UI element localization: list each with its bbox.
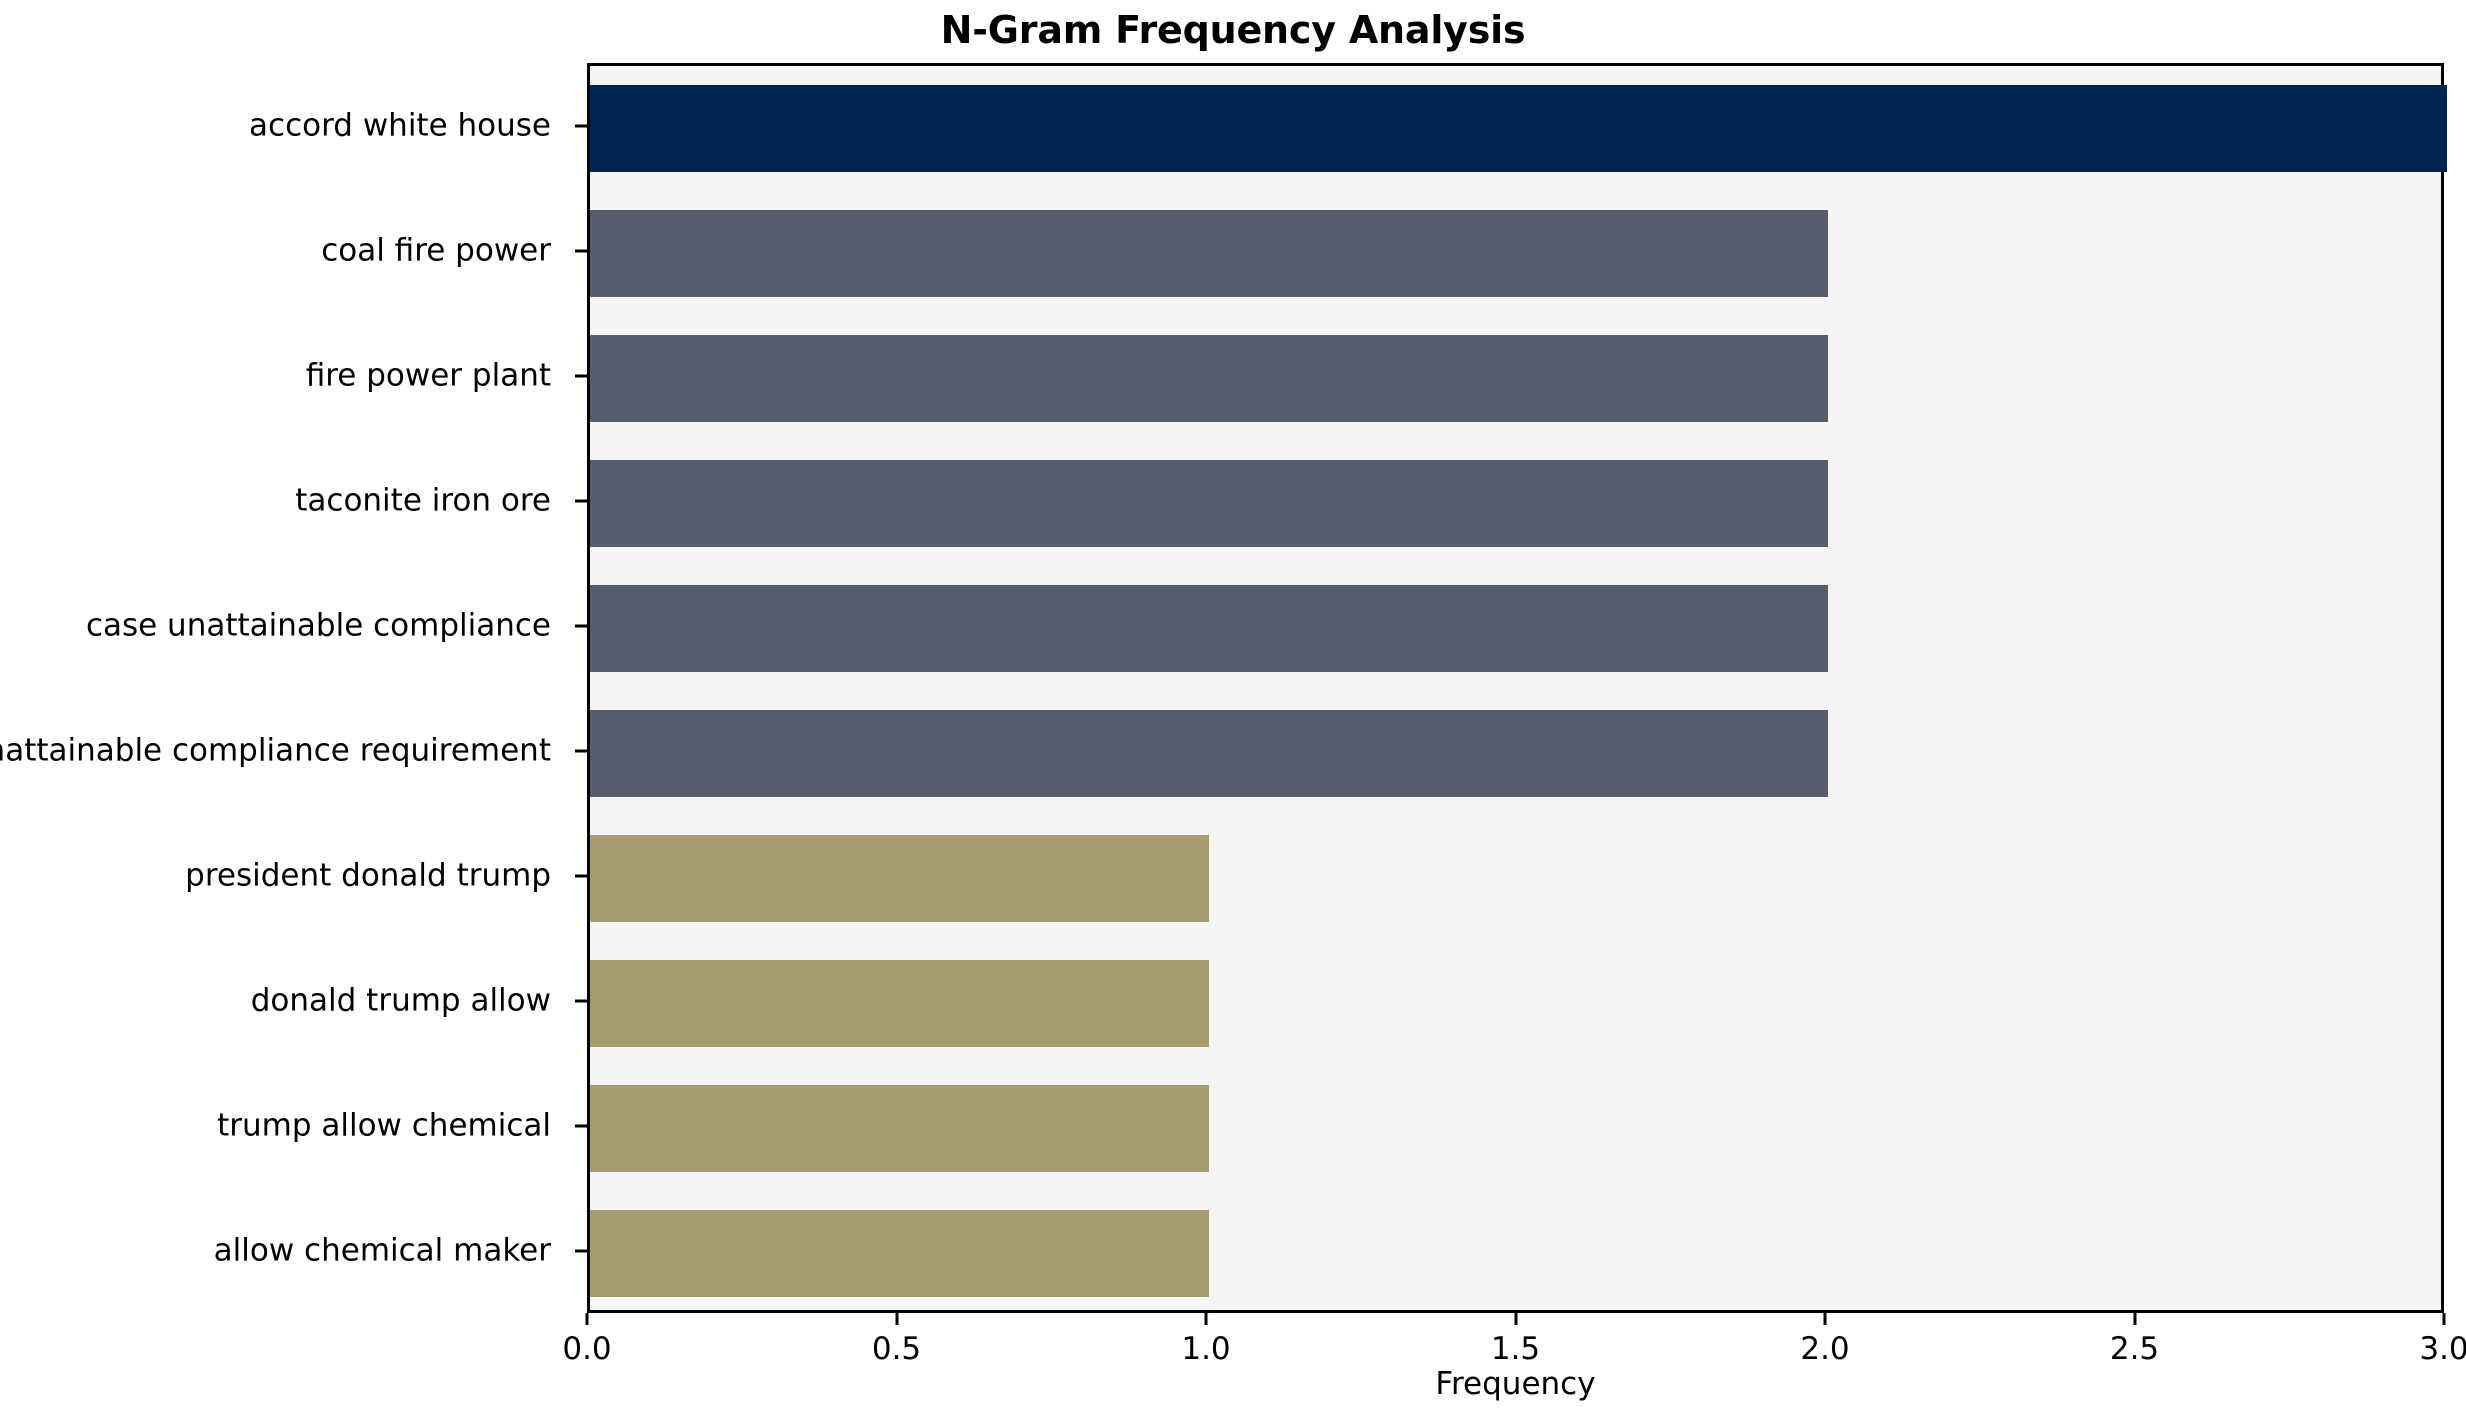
y-axis-tick-label: accord white house [249, 110, 551, 141]
x-axis-tick-label: 1.0 [1181, 1331, 1230, 1367]
y-axis-tick-label: trump allow chemical [217, 1110, 551, 1141]
y-axis-tick-mark [575, 999, 587, 1002]
y-axis-tick-mark [575, 749, 587, 752]
bars-layer [590, 66, 2441, 1310]
y-axis-tick-mark [575, 1124, 587, 1127]
x-axis-tick-mark [1514, 1313, 1517, 1325]
bar [590, 1085, 1209, 1173]
y-axis-tick-label: taconite iron ore [295, 485, 551, 516]
x-axis-tick-mark [895, 1313, 898, 1325]
y-axis-tick-mark [575, 1249, 587, 1252]
x-axis-tick-label: 3.0 [2419, 1331, 2466, 1367]
x-axis-label: Frequency [587, 1366, 2444, 1402]
bar [590, 210, 1828, 298]
y-axis-tick-label: donald trump allow [251, 985, 551, 1016]
y-axis-tick-label: case unattainable compliance [86, 610, 551, 641]
plot-area [587, 63, 2444, 1313]
x-axis-tick-label: 0.5 [872, 1331, 921, 1367]
y-axis-tick-mark [575, 249, 587, 252]
y-axis-tick-mark [575, 374, 587, 377]
y-axis-tick-mark [575, 874, 587, 877]
x-axis-tick-mark [1205, 1313, 1208, 1325]
bar [590, 960, 1209, 1048]
y-axis-tick-label: president donald trump [185, 860, 551, 891]
bar [590, 335, 1828, 423]
x-axis-tick-label: 2.0 [1800, 1331, 1849, 1367]
y-axis-tick-label: coal fire power [321, 235, 551, 266]
x-axis-tick-label: 1.5 [1491, 1331, 1540, 1367]
y-axis-tick-mark [575, 124, 587, 127]
chart-title: N-Gram Frequency Analysis [0, 8, 2466, 52]
y-axis-tick-label: unattainable compliance requirement [0, 735, 551, 766]
bar [590, 835, 1209, 923]
bar [590, 85, 2447, 173]
y-axis-tick-mark [575, 499, 587, 502]
bar [590, 460, 1828, 548]
x-axis-tick-mark [2443, 1313, 2446, 1325]
x-axis-tick-label: 0.0 [562, 1331, 611, 1367]
x-axis-tick-label: 2.5 [2110, 1331, 2159, 1367]
bar [590, 585, 1828, 673]
y-axis-tick-label: fire power plant [306, 360, 551, 391]
x-axis-tick-mark [2133, 1313, 2136, 1325]
figure-canvas: N-Gram Frequency Analysis accord white h… [0, 0, 2466, 1414]
x-axis-tick-mark [1824, 1313, 1827, 1325]
x-axis-tick-mark [586, 1313, 589, 1325]
y-axis-tick-mark [575, 624, 587, 627]
bar [590, 1210, 1209, 1298]
y-axis-tick-label-group: accord white housecoal fire powerfire po… [0, 63, 575, 1313]
y-axis-tick-label: allow chemical maker [214, 1235, 551, 1266]
bar [590, 710, 1828, 798]
